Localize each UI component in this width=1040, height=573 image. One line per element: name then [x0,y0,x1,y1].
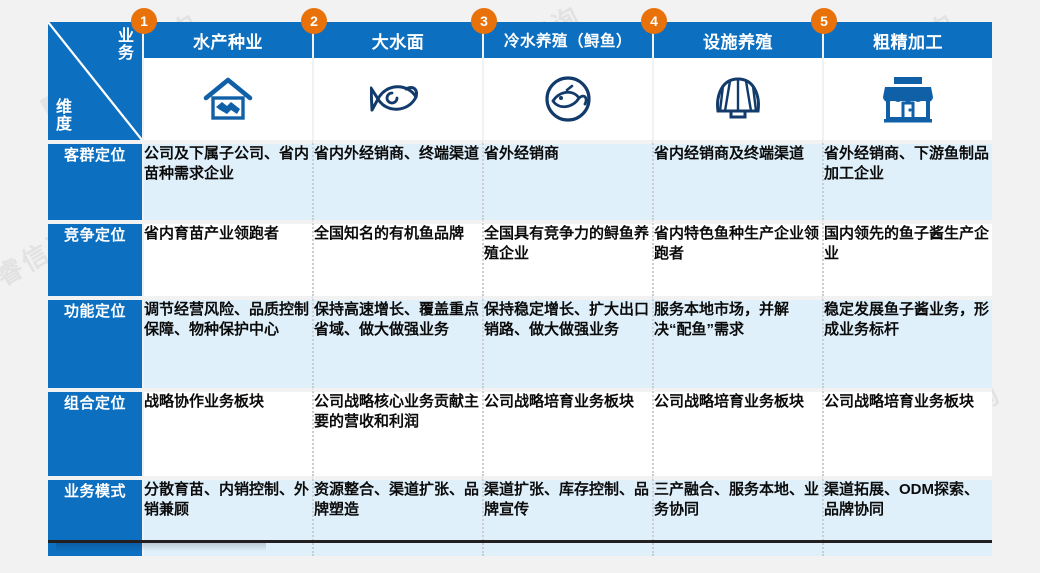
column-header-2[interactable]: 2 大水面 [312,22,482,140]
matrix-cell: 资源整合、渠道扩张、品牌塑造 [312,476,482,556]
matrix-cell: 公司战略核心业务贡献主要的营收和利润 [312,388,482,476]
matrix-cell: 渠道拓展、ODM探索、品牌协同 [822,476,992,556]
matrix-cell: 省内育苗产业领跑者 [142,220,312,296]
matrix-row: 客群定位 公司及下属子公司、省内苗种需求企业 省内外经销商、终端渠道 省外经销商… [48,140,992,220]
column-title-5: 粗精加工 [824,22,992,58]
matrix-row: 竞争定位 省内育苗产业领跑者 全国知名的有机鱼品牌 全国具有竞争力的鲟鱼养殖企业… [48,220,992,296]
business-positioning-matrix: 业务 维度 1 水产种业 [48,22,992,540]
matrix-cell: 省内特色鱼种生产企业领跑者 [652,220,822,296]
column-badge-2: 2 [301,8,327,34]
matrix-cell: 省外经销商、下游鱼制品加工企业 [822,140,992,220]
matrix-cell: 三产融合、服务本地、业务协同 [652,476,822,556]
row-label-functional-positioning: 功能定位 [48,296,142,388]
matrix-cell: 全国具有竞争力的鲟鱼养殖企业 [482,220,652,296]
column-header-4[interactable]: 4 设施养殖 [652,22,822,140]
column-badge-3: 3 [471,8,497,34]
baseline-shadow [56,543,266,551]
matrix-cell: 调节经营风险、品质控制保障、物种保护中心 [142,296,312,388]
matrix-cell: 公司战略培育业务板块 [822,388,992,476]
matrix-row: 功能定位 调节经营风险、品质控制保障、物种保护中心 保持高速增长、覆盖重点省域、… [48,296,992,388]
column-header-3[interactable]: 3 冷水养殖（鲟鱼） [482,22,652,140]
row-label-portfolio-positioning: 组合定位 [48,388,142,476]
row-label-customer-positioning: 客群定位 [48,140,142,220]
column-badge-5: 5 [811,8,837,34]
column-title-3: 冷水养殖（鲟鱼） [484,22,652,58]
matrix-cell: 国内领先的鱼子酱生产企业 [822,220,992,296]
matrix-corner-cell: 业务 维度 [48,22,142,140]
matrix-cell: 渠道扩张、库存控制、品牌宣传 [482,476,652,556]
matrix-cell: 保持稳定增长、扩大出口销路、做大做强业务 [482,296,652,388]
matrix-cell: 服务本地市场，并解决“配鱼”需求 [652,296,822,388]
corner-columns-axis-label: 业务 [116,29,136,63]
house-handshake-icon [144,58,312,140]
column-header-1[interactable]: 1 水产种业 [142,22,312,140]
matrix-cell: 公司及下属子公司、省内苗种需求企业 [142,140,312,220]
column-title-1: 水产种业 [144,22,312,58]
column-badge-1: 1 [131,8,157,34]
fish-icon [314,58,482,140]
column-header-5[interactable]: 5 粗精加工 [822,22,992,140]
matrix-cell: 公司战略培育业务板块 [652,388,822,476]
column-title-4: 设施养殖 [654,22,822,58]
matrix-header-row: 业务 维度 1 水产种业 [48,22,992,140]
sturgeon-circle-icon [484,58,652,140]
matrix-cell: 稳定发展鱼子酱业务，形成业务标杆 [822,296,992,388]
corner-rows-axis-label: 维度 [54,100,74,134]
scallop-shell-icon [654,58,822,140]
matrix-cell: 省外经销商 [482,140,652,220]
column-badge-4: 4 [641,8,667,34]
matrix-table: 业务 维度 1 水产种业 [48,22,992,556]
matrix-cell: 全国知名的有机鱼品牌 [312,220,482,296]
matrix-row: 组合定位 战略协作业务板块 公司战略核心业务贡献主要的营收和利润 公司战略培育业… [48,388,992,476]
matrix-cell: 省内经销商及终端渠道 [652,140,822,220]
storefront-icon [824,58,992,140]
row-label-competitive-positioning: 竞争定位 [48,220,142,296]
matrix-cell: 省内外经销商、终端渠道 [312,140,482,220]
column-title-2: 大水面 [314,22,482,58]
bottom-rule [48,540,992,543]
matrix-cell: 战略协作业务板块 [142,388,312,476]
matrix-cell: 保持高速增长、覆盖重点省域、做大做强业务 [312,296,482,388]
matrix-cell: 公司战略培育业务板块 [482,388,652,476]
